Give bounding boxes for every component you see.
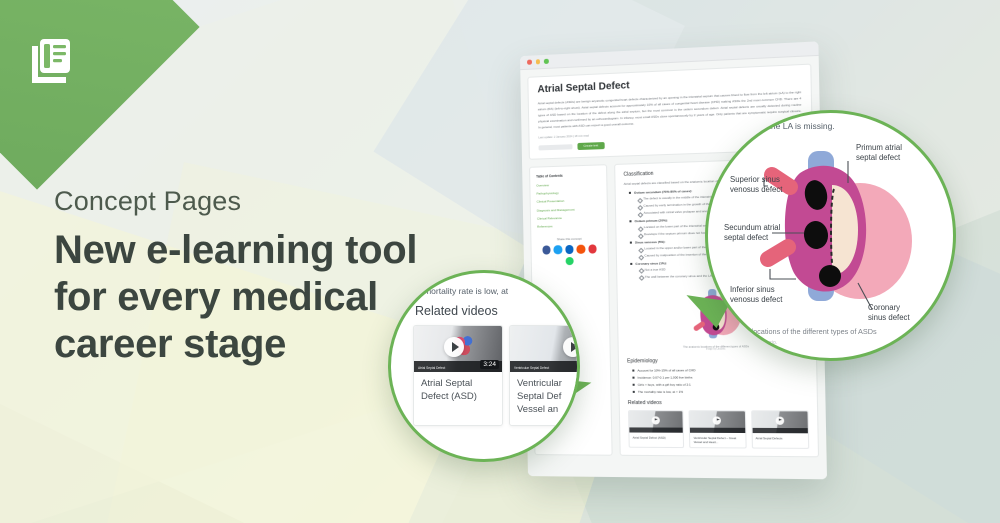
play-icon[interactable] xyxy=(713,416,722,424)
magnified-related-videos-heading: Related videos xyxy=(415,304,498,318)
secondary-action-placeholder[interactable] xyxy=(539,144,573,150)
video-title: Ventricular Septal Defect – Great Vessel… xyxy=(690,432,745,447)
magnified-video-cards: Atrial Septal Defect 3:24 Atrial Septal … xyxy=(413,325,580,426)
magnified-figure-caption: tomic locations of the different types o… xyxy=(732,327,877,336)
group-label: Sinus venosus (5%): xyxy=(635,239,666,244)
title-line-2: for every medical xyxy=(54,275,378,319)
title-line-3: career stage xyxy=(54,322,286,366)
banner-stage: Concept Pages New e-learning tool for ev… xyxy=(0,0,1000,523)
label-inferior-sinus-venosus-defect: Inferior sinusvenosus defect xyxy=(730,285,782,305)
epi-point: Incidence: 0.07-0.1 per 1,000 live birth… xyxy=(633,374,807,379)
video-thumbnail[interactable] xyxy=(752,411,808,433)
minimize-icon[interactable] xyxy=(535,59,540,64)
video-card[interactable]: Ventricular Septal Defect – Great Vessel… xyxy=(689,410,746,449)
video-thumbnail[interactable]: Atrial Septal Defect 3:24 xyxy=(414,326,502,372)
video-title: Atrial Septal Defect (ASD) xyxy=(629,432,683,443)
magnified-figure-credit: Image by Lecturio. xyxy=(736,340,777,346)
video-title: Ventricular Septal Def Vessel an xyxy=(510,372,580,425)
thumbnail-caption-text: Atrial Septal Defect xyxy=(418,366,445,370)
share-linkedin-icon[interactable] xyxy=(565,245,574,254)
toc-item-pathophysiology[interactable]: Pathophysiology xyxy=(536,190,600,196)
video-thumbnail[interactable] xyxy=(629,411,683,433)
magnifier-context-text: e mortality rate is low, at xyxy=(417,286,508,296)
label-superior-sinus-venosus-defect: Superior sinusvenosus defect xyxy=(730,175,782,195)
video-title: Atrial Septal Defects xyxy=(752,433,808,444)
label-coronary-sinus-defect: Coronarysinus defect xyxy=(868,303,910,323)
group-label: Ostium secundum (70%-80% of cases): xyxy=(634,189,692,195)
label-primum-atrial-septal-defect: Primum atrialseptal defect xyxy=(856,143,902,163)
play-icon[interactable] xyxy=(444,337,464,357)
label-secundum-atrial-septal-defect: Secundum atrialseptal defect xyxy=(724,223,780,243)
share-facebook-icon[interactable] xyxy=(542,246,551,255)
share-buttons xyxy=(537,245,601,266)
toc-item-references[interactable]: References xyxy=(537,223,601,229)
pages-document-icon xyxy=(22,33,78,89)
share-twitter-icon[interactable] xyxy=(554,246,563,255)
epidemiology-list: Account for 10%-15% of all cases of CHD … xyxy=(627,367,808,393)
toc-item-clinical-relevance[interactable]: Clinical Relevance xyxy=(537,215,601,221)
play-icon[interactable] xyxy=(652,416,660,424)
thumbnail-caption-strip xyxy=(629,427,683,432)
group-label: Ostium primum (20%): xyxy=(635,218,668,223)
video-card[interactable]: Atrial Septal Defect (ASD) xyxy=(628,410,684,448)
share-label: Share this concept xyxy=(537,237,601,243)
related-videos-magnifier: e mortality rate is low, at Related vide… xyxy=(388,270,580,462)
video-card[interactable]: Ventricular Septal Defect Ventricular Se… xyxy=(509,325,580,426)
toc-item-overview[interactable]: Overview xyxy=(536,181,600,187)
toc-item-diagnosis-management[interactable]: Diagnosis and Management xyxy=(537,207,601,213)
group-label: Coronary sinus (1%): xyxy=(635,261,666,266)
thumbnail-caption-strip xyxy=(752,427,808,432)
thumbnail-caption-strip xyxy=(690,427,745,432)
share-reddit-icon[interactable] xyxy=(577,245,586,254)
video-card[interactable]: Atrial Septal Defects xyxy=(751,410,809,449)
kicker-text: Concept Pages xyxy=(54,186,474,217)
create-test-button[interactable]: Create test xyxy=(577,142,604,150)
title-line-1: New e-learning tool xyxy=(54,228,417,272)
toc-item-clinical-presentation[interactable]: Clinical Presentation xyxy=(537,198,601,204)
related-videos-grid: Atrial Septal Defect (ASD) Ventricular S… xyxy=(628,410,809,449)
epi-point: The mortality rate is low, at < 1% xyxy=(634,389,808,393)
maximize-icon[interactable] xyxy=(544,59,549,64)
share-pinterest-icon[interactable] xyxy=(588,245,597,254)
epi-point: Account for 10%-15% of all cases of CHD xyxy=(633,367,807,372)
video-thumbnail[interactable]: Ventricular Septal Defect xyxy=(510,326,580,372)
thumbnail-caption-text: Ventricular Septal Defect xyxy=(514,366,549,370)
video-card[interactable]: Atrial Septal Defect 3:24 Atrial Septal … xyxy=(413,325,503,426)
epi-point: Girls > boys, with a girl:boy ratio of 2… xyxy=(634,382,808,387)
play-icon[interactable] xyxy=(775,416,784,424)
close-icon[interactable] xyxy=(527,60,532,65)
video-thumbnail[interactable] xyxy=(690,411,745,433)
asd-anatomy-magnifier: and the LA is missing. Superior sinusven… xyxy=(705,110,956,361)
video-duration-badge: 3:24 xyxy=(480,360,499,369)
share-whatsapp-icon[interactable] xyxy=(565,257,574,266)
related-videos-heading: Related videos xyxy=(628,399,809,405)
toc-heading: Table of Contents xyxy=(536,172,600,178)
video-title: Atrial Septal Defect (ASD) xyxy=(414,372,502,413)
